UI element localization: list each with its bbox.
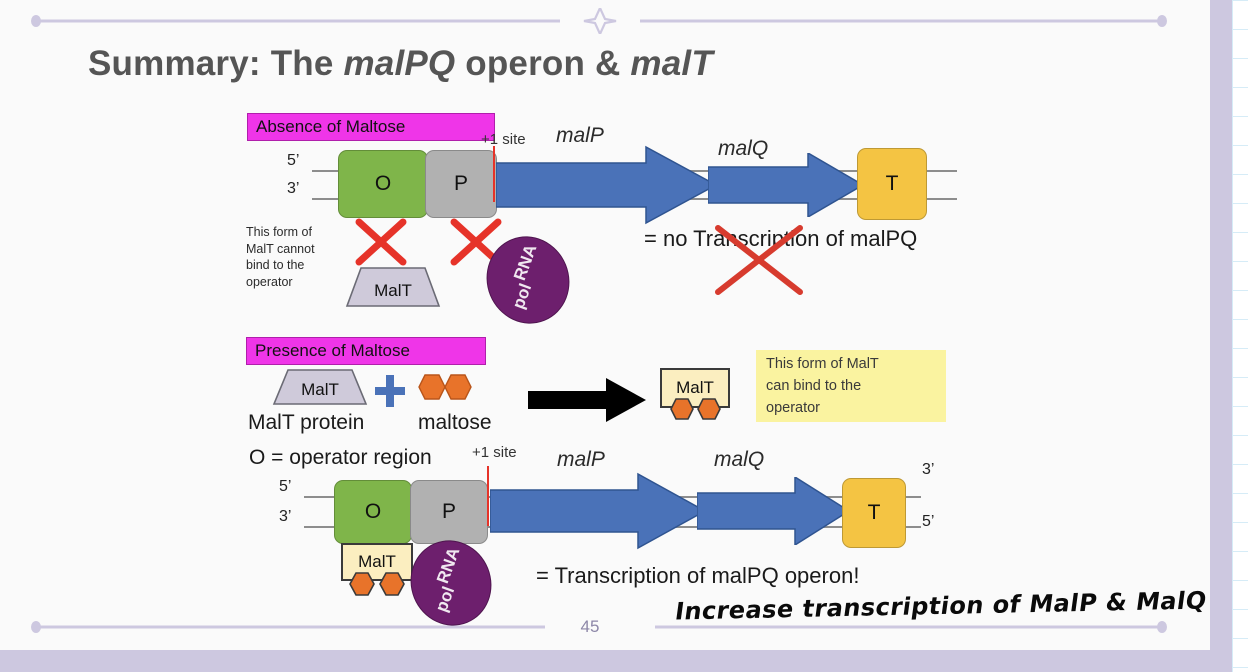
strand-label-5prime-top: 5’ xyxy=(287,152,299,170)
transcription-start-tick-top xyxy=(493,146,495,202)
red-x-no-transcription xyxy=(712,222,806,298)
svg-text:MalT: MalT xyxy=(301,380,339,399)
plus-sign-icon xyxy=(375,375,405,407)
page-number: 45 xyxy=(0,617,1180,637)
page-title: Summary: The malPQ operon & malT xyxy=(88,44,713,84)
right-margin-band xyxy=(1210,0,1232,650)
caption-maltose: maltose xyxy=(418,411,492,435)
gene-label-malQ-bottom: malQ xyxy=(714,448,764,472)
maltose-bound-unit-1-bottom xyxy=(349,572,375,596)
gene-arrow-malP-top xyxy=(496,145,716,225)
malt-inactive-shape-top: MalT xyxy=(345,266,441,308)
caption-malt-protein: MalT protein xyxy=(248,411,364,435)
banner-absence-of-maltose: Absence of Maltose xyxy=(247,113,495,141)
strand-label-3prime-bottom-right: 3’ xyxy=(922,461,934,479)
gene-arrow-malP-bottom xyxy=(490,472,705,550)
title-gene-malT: malT xyxy=(630,44,713,83)
promoter-box-top: P xyxy=(425,150,497,218)
gene-label-malP-bottom: malP xyxy=(557,448,605,472)
maltose-bound-unit-2-bottom xyxy=(379,572,405,596)
top-divider-ornament xyxy=(0,8,1180,34)
strand-label-5prime-bottom-right: 5’ xyxy=(922,513,934,531)
rnapol-label-line2-bottom: pol xyxy=(432,584,460,615)
result-transcription-occurs: = Transcription of malPQ operon! xyxy=(536,563,859,589)
red-x-operator-binding xyxy=(355,218,407,266)
legend-operator-region: O = operator region xyxy=(249,446,432,470)
title-middle: operon & xyxy=(455,44,630,83)
plus1-site-label-bottom: +1 site xyxy=(472,444,517,461)
banner-presence-of-maltose: Presence of Maltose xyxy=(246,337,486,365)
malt-inactive-shape-middle: MalT xyxy=(272,368,368,406)
maltose-bound-unit-1-middle xyxy=(670,398,694,420)
note-malt-cannot-bind: This form of MalT cannot bind to the ope… xyxy=(246,224,356,290)
strand-label-3prime-bottom-left: 3’ xyxy=(279,508,291,526)
strand-label-5prime-bottom-left: 5’ xyxy=(279,478,291,496)
title-prefix: Summary: The xyxy=(88,44,343,83)
slide-page xyxy=(0,0,1210,650)
rnapol-label-line2: pol xyxy=(509,281,537,312)
bottom-margin-band xyxy=(0,650,1248,672)
note-text: This form of MalT cannot bind to the ope… xyxy=(246,225,315,289)
reaction-arrow-icon xyxy=(528,378,646,422)
grid-paper-strip xyxy=(1232,0,1248,672)
terminator-box-bottom: T xyxy=(842,478,906,548)
gene-arrow-malQ-bottom xyxy=(697,477,849,545)
operator-box-top: O xyxy=(338,150,428,218)
note-malt-can-bind: This form of MalT can bind to the operat… xyxy=(766,354,946,419)
gene-arrow-malQ-top xyxy=(708,153,863,217)
maltose-glucose-unit-1 xyxy=(418,374,446,400)
maltose-bound-unit-2-middle xyxy=(697,398,721,420)
title-gene-malPQ: malPQ xyxy=(343,44,455,83)
strand-label-3prime-top: 3’ xyxy=(287,180,299,198)
terminator-box-top: T xyxy=(857,148,927,220)
operator-box-bottom: O xyxy=(334,480,412,544)
rnapol-label-line1: RNA xyxy=(510,242,541,283)
transcription-start-tick-bottom xyxy=(487,466,489,526)
rnapol-label-line1-bottom: RNA xyxy=(433,545,464,586)
maltose-glucose-unit-2 xyxy=(444,374,472,400)
promoter-box-bottom: P xyxy=(410,480,488,544)
svg-text:MalT: MalT xyxy=(374,281,412,300)
